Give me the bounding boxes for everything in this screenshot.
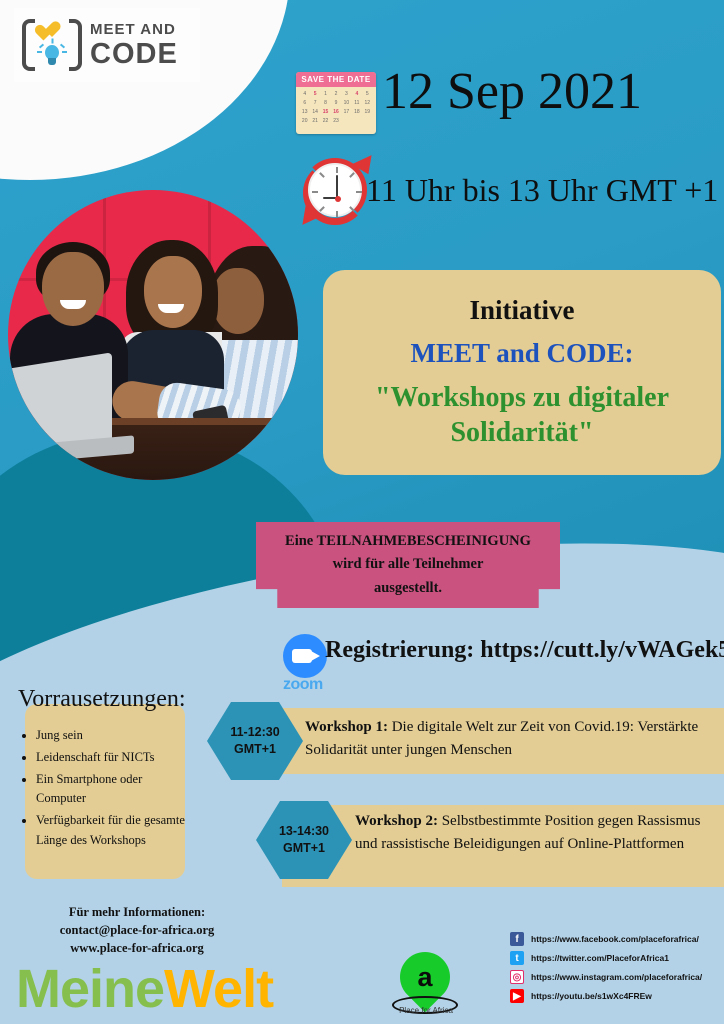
pfa-letter: a [400,952,450,1002]
workshop-1-text: Workshop 1: Die digitale Welt zur Zeit v… [305,716,715,761]
social-row-twitter[interactable]: t https://twitter.com/PlaceforAfrica1 [510,951,702,965]
youtube-url[interactable]: https://youtu.be/s1wXc4FREw [531,991,652,1001]
calendar-grid: 4512345 6789101112 13141516171819 202122… [296,87,376,128]
workshop-1-time-line-2: GMT+1 [234,741,276,758]
twitter-url[interactable]: https://twitter.com/PlaceforAfrica1 [531,953,669,963]
instagram-icon[interactable]: ◎ [510,970,524,984]
logo-line-2: CODE [90,40,178,69]
certificate-line-3: ausgestellt. [374,577,442,600]
place-for-africa-logo: a Place for Africa [378,952,474,1022]
event-date: 12 Sep 2021 [382,62,642,121]
registration-link[interactable]: Registrierung: https://cutt.ly/vWAGek5 [325,637,724,664]
poster-canvas: MEET AND CODE SAVE THE DATE 4512345 6789… [0,0,724,1024]
participants-photo [8,190,298,480]
logo-line-1: MEET AND [90,22,178,37]
social-row-youtube[interactable]: ▶ https://youtu.be/s1wXc4FREw [510,989,702,1003]
heart-icon [42,22,61,39]
calendar-header-label: SAVE THE DATE [296,72,376,87]
twitter-icon[interactable]: t [510,951,524,965]
social-row-facebook[interactable]: f https://www.facebook.com/placeforafric… [510,932,702,946]
instagram-url[interactable]: https://www.instagram.com/placeforafrica… [531,972,702,982]
meine-welt-part-1: Meine [16,959,164,1019]
workshop-1-time-line-1: 11-12:30 [230,724,279,741]
pfa-label: Place for Africa [378,1006,474,1015]
certificate-line-1: Eine TEILNAHMEBESCHEINIGUNG [285,530,531,553]
initiative-line-3: "Workshops zu digitaler Solidarität" [337,381,707,449]
workshop-1-label: Workshop 1: [305,719,388,735]
social-row-instagram[interactable]: ◎ https://www.instagram.com/placeforafri… [510,970,702,984]
initiative-line-1: Initiative [470,295,575,326]
initiative-line-2: MEET and CODE: [410,338,633,369]
contact-line-1: Für mehr Informationen: [22,903,252,921]
calendar-icon: SAVE THE DATE 4512345 6789101112 1314151… [296,72,376,134]
meet-and-code-logo: MEET AND CODE [14,8,200,82]
contact-email[interactable]: contact@place-for-africa.org [22,921,252,939]
youtube-icon[interactable]: ▶ [510,989,524,1003]
list-item: Leidenschaft für NICTs [36,748,186,768]
workshop-2-time-line-2: GMT+1 [283,840,325,857]
brace-right-icon [69,19,82,71]
meine-welt-logo: MeineWelt [16,958,273,1020]
lightbulb-icon [42,45,62,69]
prerequisites-title: Vorrausetzungen: [18,686,186,713]
initiative-box: Initiative MEET and CODE: "Workshops zu … [323,270,721,475]
facebook-url[interactable]: https://www.facebook.com/placeforafrica/ [531,934,699,944]
meine-welt-part-2: Welt [164,959,273,1019]
workshop-2-text: Workshop 2: Selbstbestimmte Position geg… [355,810,720,855]
certificate-banner: Eine TEILNAHMEBESCHEINIGUNG wird für all… [256,522,560,608]
logo-wordmark: MEET AND CODE [90,22,178,69]
list-item: Verfügbarkeit für die gesamte Länge des … [36,811,186,851]
social-links: f https://www.facebook.com/placeforafric… [510,932,702,1008]
workshop-2-time-line-1: 13-14:30 [279,823,329,840]
list-item: Ein Smartphone oder Computer [36,770,186,810]
facebook-icon[interactable]: f [510,932,524,946]
contact-website[interactable]: www.place-for-africa.org [22,939,252,957]
certificate-line-2: wird für alle Teilnehmer [333,553,484,576]
list-item: Jung sein [36,726,186,746]
logo-mark [20,15,84,75]
zoom-wordmark: zoom [283,676,323,694]
clock-icon [296,155,374,227]
brace-left-icon [22,19,35,71]
event-time: 11 Uhr bis 13 Uhr GMT +1 [366,172,718,209]
contact-info: Für mehr Informationen: contact@place-fo… [22,903,252,957]
prerequisites-list: Jung sein Leidenschaft für NICTs Ein Sma… [36,726,186,853]
workshop-2-label: Workshop 2: [355,813,438,829]
